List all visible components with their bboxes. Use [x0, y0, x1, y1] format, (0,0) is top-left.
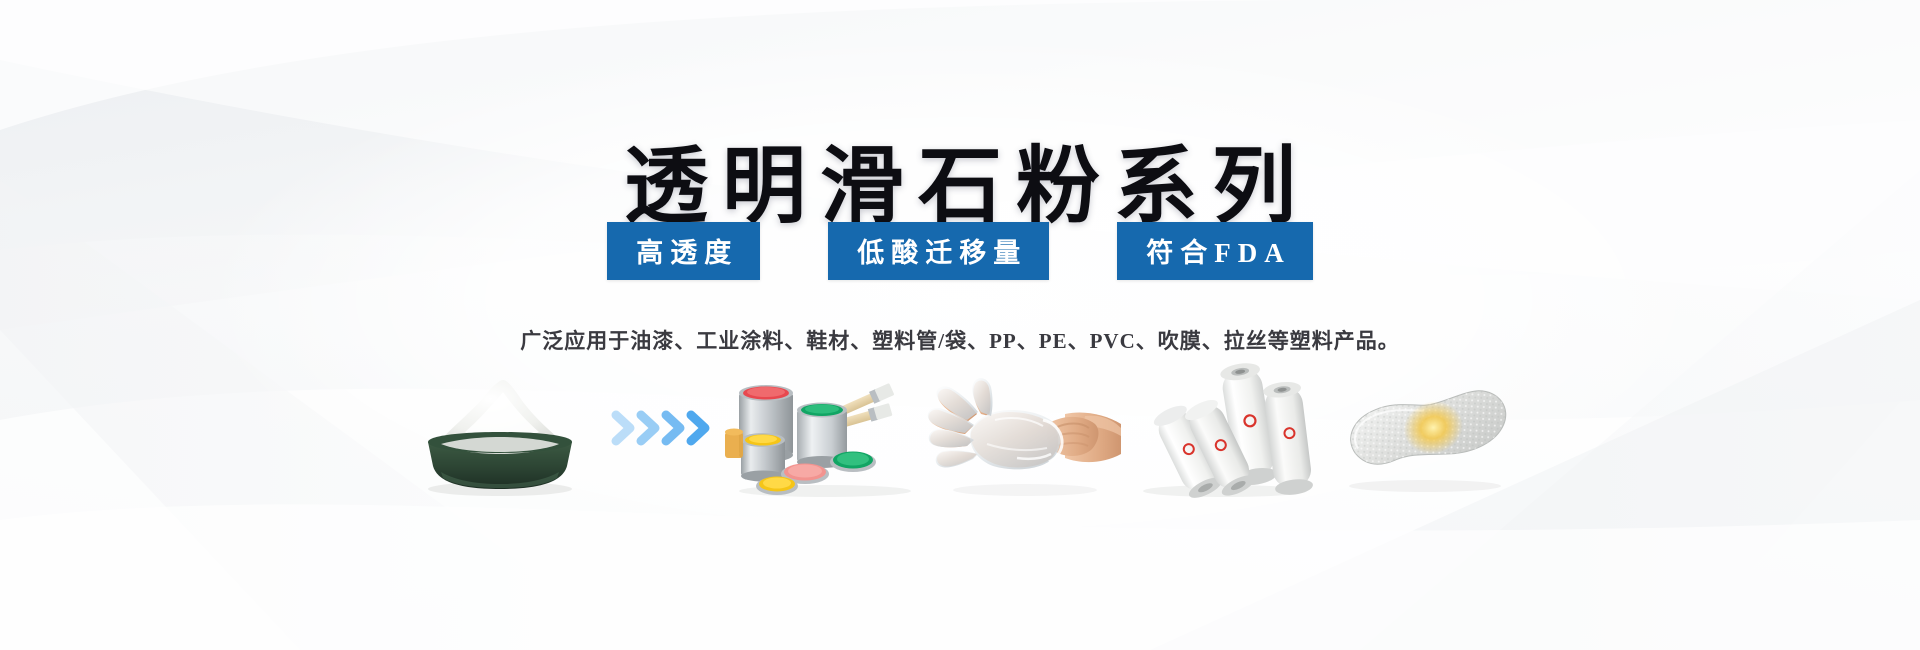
paint-can-yellow — [741, 433, 785, 482]
badge-fda-compliant[interactable]: 符合FDA — [1117, 222, 1313, 280]
chevron-icon-1 — [616, 415, 630, 441]
application-description: 广泛应用于油漆、工业涂料、鞋材、塑料管/袋、PP、PE、PVC、吹膜、拉丝等塑料… — [0, 326, 1920, 356]
product-film-rolls — [1125, 358, 1325, 498]
product-banner: 透明滑石粉系列 高透度 低酸迁移量 符合FDA 广泛应用于油漆、工业涂料、鞋材、… — [0, 0, 1920, 650]
process-arrows — [605, 358, 725, 498]
product-pe-glove-hand — [925, 358, 1125, 498]
paint-tube-orange — [725, 429, 743, 459]
badge-high-transparency[interactable]: 高透度 — [607, 222, 760, 280]
chevron-icon-3 — [666, 415, 680, 441]
chevron-icon-4 — [691, 415, 705, 441]
feature-badge-group: 高透度 低酸迁移量 符合FDA — [0, 222, 1920, 280]
product-paint-cans — [725, 358, 925, 498]
product-talc-powder-bowl — [395, 358, 605, 498]
product-shoe-sole — [1325, 358, 1525, 498]
badge-low-acid-migration[interactable]: 低酸迁移量 — [828, 222, 1049, 280]
product-image-strip — [0, 358, 1920, 498]
chevron-icon-2 — [641, 415, 655, 441]
